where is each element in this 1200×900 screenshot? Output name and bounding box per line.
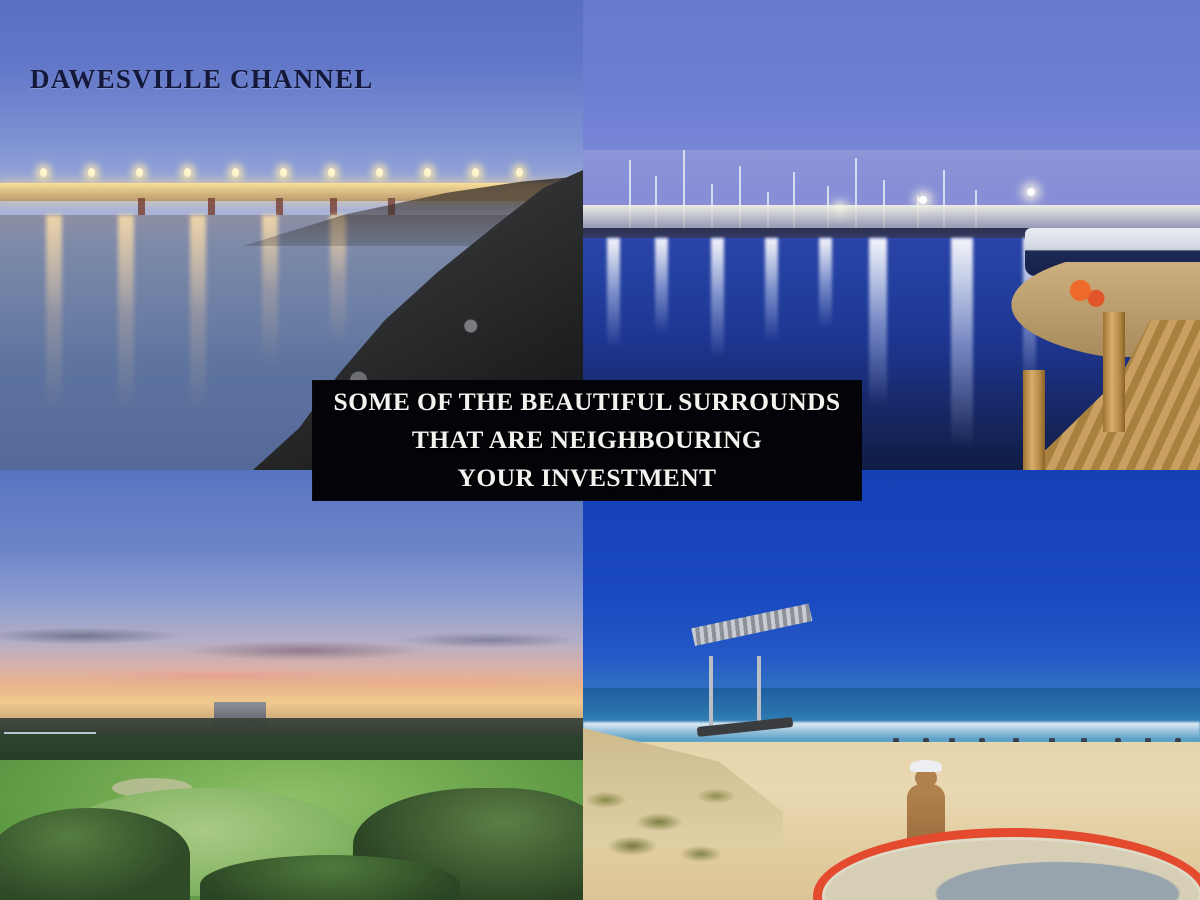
shelter-roof: [691, 603, 812, 646]
shelter-leg: [709, 656, 713, 728]
dock-lamp: [919, 196, 927, 204]
banner-line-3: YOUR INVESTMENT: [458, 460, 717, 497]
banner-line-1: SOME OF THE BEAUTIFUL SURROUNDS: [334, 384, 841, 421]
orange-crane: [1062, 276, 1108, 312]
shelter-leg: [757, 656, 761, 728]
banner-line-2: THAT ARE NEIGHBOURING: [412, 422, 762, 459]
caption-dawesville-channel: DAWESVILLE CHANNEL: [30, 64, 373, 95]
foreground-shrub-left: [0, 808, 190, 900]
photo-the-cut-golf-course: THE "CUT" GOLF COURSE: [0, 470, 583, 900]
banner-overlay: SOME OF THE BEAUTIFUL SURROUNDS THAT ARE…: [313, 381, 861, 500]
mooring-pile: [1023, 370, 1045, 470]
photo-avalon-beach: AVALON BEACH: [583, 470, 1200, 900]
sunset-clouds: [0, 615, 583, 720]
mooring-pile: [1103, 312, 1125, 432]
beach-shade-shelter: [695, 628, 815, 728]
dune-scrub: [583, 770, 773, 870]
breaking-surf: [583, 722, 1200, 738]
dock-lamp: [1027, 188, 1035, 196]
property-surrounds-collage: DAWESVILLE CHANNEL: [0, 0, 1200, 900]
surfer-hat: [910, 760, 942, 772]
